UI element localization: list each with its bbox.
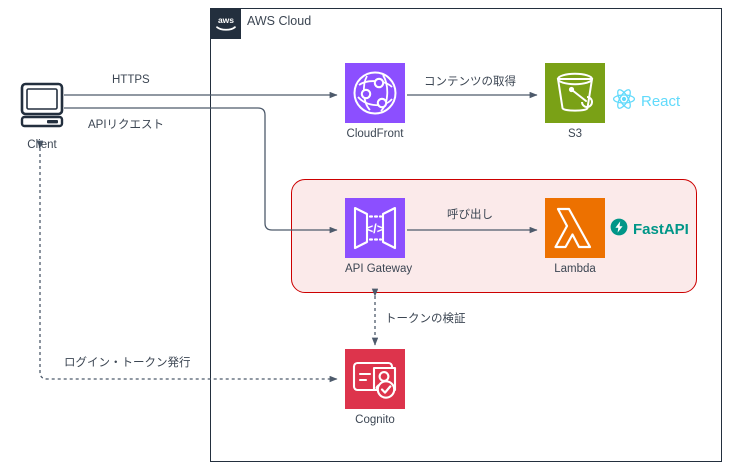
brand-fastapi: FastAPI xyxy=(610,218,689,240)
edge-label-contents: コンテンツの取得 xyxy=(424,73,516,89)
cognito-id-card-icon xyxy=(345,349,405,409)
aws-cloud-label: AWS Cloud xyxy=(247,14,311,28)
api-gateway-icon: </> xyxy=(345,198,405,258)
fastapi-bolt-icon xyxy=(610,218,628,240)
node-client[interactable]: Client xyxy=(14,74,70,151)
s3-bucket-icon xyxy=(545,63,605,123)
brand-fastapi-label: FastAPI xyxy=(633,221,689,238)
node-api-gateway-label: API Gateway xyxy=(345,263,405,275)
node-s3[interactable]: S3 xyxy=(545,63,605,140)
node-api-gateway[interactable]: </> API Gateway xyxy=(345,198,405,275)
node-cloudfront[interactable]: CloudFront xyxy=(345,63,405,140)
node-lambda-label: Lambda xyxy=(545,263,605,275)
aws-logo-icon: aws xyxy=(211,9,241,39)
svg-text:aws: aws xyxy=(218,15,234,25)
node-client-label: Client xyxy=(14,139,70,151)
diagram-canvas: aws AWS Cloud xyxy=(0,0,740,470)
node-cognito[interactable]: Cognito xyxy=(345,349,405,426)
edge-label-login-token: ログイン・トークン発行 xyxy=(64,354,191,370)
node-cloudfront-label: CloudFront xyxy=(345,128,405,140)
lambda-icon xyxy=(545,198,605,258)
cloudfront-globe-icon xyxy=(345,63,405,123)
react-atom-icon xyxy=(612,88,636,114)
desktop-computer-icon xyxy=(14,74,70,135)
node-s3-label: S3 xyxy=(545,128,605,140)
edge-label-token-verify: トークンの検証 xyxy=(385,310,466,326)
edge-label-https: HTTPS xyxy=(112,74,150,86)
brand-react-label: React xyxy=(641,93,680,110)
edge-label-api-request: APIリクエスト xyxy=(88,116,164,132)
brand-react: React xyxy=(612,88,680,114)
node-lambda[interactable]: Lambda xyxy=(545,198,605,275)
edge-label-invoke: 呼び出し xyxy=(447,206,493,222)
node-cognito-label: Cognito xyxy=(345,414,405,426)
svg-text:</>: </> xyxy=(366,221,385,236)
